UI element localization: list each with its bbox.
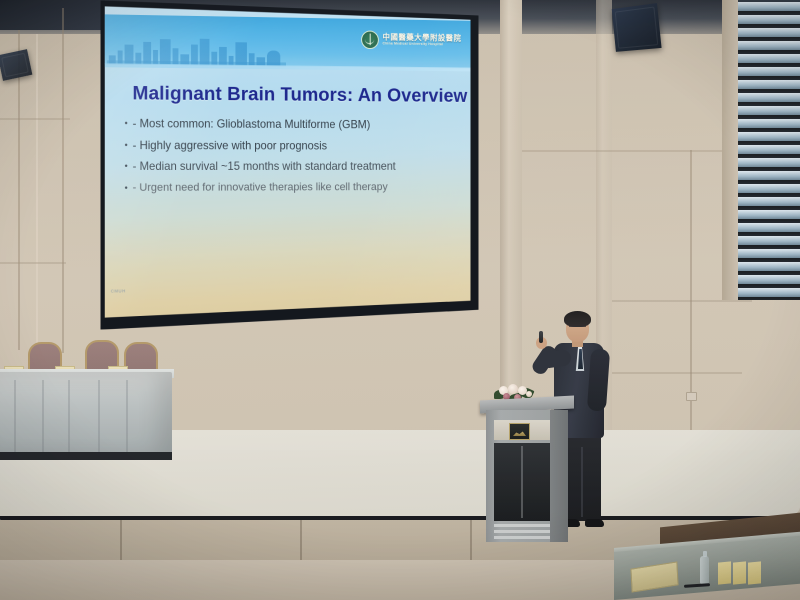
slide-title: Malignant Brain Tumors: An Overview: [132, 82, 467, 107]
head-table-base: [0, 452, 172, 460]
list-item: • - Most common: Glioblastoma Multiforme…: [125, 118, 456, 131]
wall-seam: [522, 150, 752, 152]
bullet-text: - Most common: Glioblastoma Multiforme (…: [133, 118, 371, 131]
window-frame: [722, 0, 738, 300]
head-table-cloth: [0, 372, 172, 458]
list-item: • - Median survival ~15 months with stan…: [125, 161, 456, 173]
wall-seam: [612, 300, 752, 302]
list-item: • - Highly aggressive with poor prognosi…: [125, 140, 456, 152]
glasses-icon: [569, 326, 586, 331]
presenter-hair: [564, 311, 591, 327]
city-skyline-silhouette-icon: [107, 34, 286, 66]
slide-header-band: 中國醫藥大學附設醫院 China Medical University Hosp…: [93, 14, 471, 68]
bullet-text: - Highly aggressive with poor prognosis: [133, 140, 327, 152]
list-item: • - Urgent need for innovative therapies…: [125, 182, 456, 194]
speaker-grille: [615, 6, 659, 48]
bullet-marker: •: [125, 140, 128, 151]
presenter-arm-right: [587, 348, 610, 411]
wall-seam: [36, 34, 38, 350]
lectern: [484, 398, 570, 548]
institutional-crest-icon: [509, 423, 530, 440]
wall-seam: [612, 372, 742, 374]
lectern-panel-split: [521, 446, 523, 518]
cmuh-emblem-icon: [361, 30, 379, 49]
name-tent: [718, 561, 731, 584]
hospital-logo: 中國醫藥大學附設醫院 China Medical University Hosp…: [361, 30, 461, 50]
slide-bullet-list: • - Most common: Glioblastoma Multiforme…: [125, 118, 456, 204]
presentation-slide: 中國醫藥大學附設醫院 China Medical University Hosp…: [93, 6, 471, 318]
bullet-marker: •: [125, 161, 128, 172]
bullet-text: - Median survival ~15 months with standa…: [133, 161, 396, 173]
presenter-shoe: [585, 519, 604, 527]
presentation-photo-scene: 中國醫藥大學附設醫院 China Medical University Hosp…: [0, 0, 800, 600]
bullet-marker: •: [125, 183, 128, 194]
wall-seam: [0, 262, 66, 264]
presenter-leg-split: [581, 447, 583, 517]
microphone-icon: [539, 331, 543, 343]
water-bottle: [700, 556, 709, 584]
wall-seam: [62, 8, 64, 353]
lectern-side: [550, 410, 568, 542]
wall-pilaster: [500, 0, 522, 430]
bullet-text: - Urgent need for innovative therapies l…: [133, 182, 388, 194]
projection-screen: 中國醫藥大學附設醫院 China Medical University Hosp…: [84, 0, 479, 330]
wall-seam: [18, 30, 20, 350]
speaker-grille: [1, 53, 29, 78]
name-tent: [733, 561, 746, 584]
wall-seam: [0, 118, 70, 120]
ceiling-speaker-icon: [612, 3, 662, 52]
name-tent: [748, 561, 761, 584]
slide-watermark: CMUH: [111, 288, 126, 293]
wall-socket: [686, 392, 697, 401]
bullet-marker: •: [125, 118, 128, 129]
louvered-window: [738, 0, 800, 300]
